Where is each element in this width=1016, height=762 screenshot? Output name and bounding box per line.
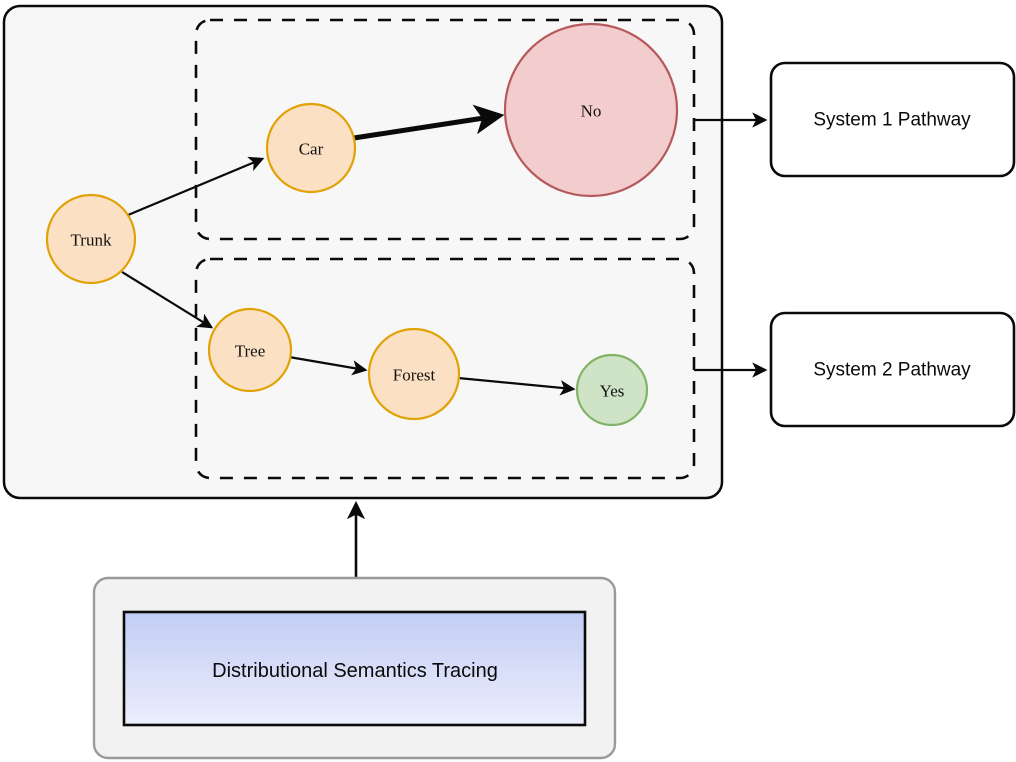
node-car[interactable]: Car <box>267 104 355 192</box>
system1-pathway-box[interactable]: System 1 Pathway <box>771 63 1014 176</box>
node-tree-label: Tree <box>235 342 266 361</box>
flowchart-svg: Trunk Car No Tree Forest Yes System 1 Pa… <box>0 0 1016 762</box>
node-trunk-label: Trunk <box>71 231 112 250</box>
node-trunk[interactable]: Trunk <box>47 195 135 283</box>
system1-pathway-label: System 1 Pathway <box>813 110 971 131</box>
system2-pathway-label: System 2 Pathway <box>813 360 971 381</box>
node-yes[interactable]: Yes <box>577 355 647 425</box>
node-yes-label: Yes <box>600 382 625 401</box>
node-forest-label: Forest <box>393 366 436 385</box>
node-car-label: Car <box>299 140 324 159</box>
tracing-panel[interactable]: Distributional Semantics Tracing <box>94 578 615 758</box>
diagram-canvas: Trunk Car No Tree Forest Yes System 1 Pa… <box>0 0 1016 762</box>
node-no[interactable]: No <box>505 24 677 196</box>
tracing-panel-label: Distributional Semantics Tracing <box>212 660 498 682</box>
node-forest[interactable]: Forest <box>369 329 459 419</box>
node-no-label: No <box>581 102 602 121</box>
node-tree[interactable]: Tree <box>209 309 291 391</box>
system2-pathway-box[interactable]: System 2 Pathway <box>771 313 1014 426</box>
